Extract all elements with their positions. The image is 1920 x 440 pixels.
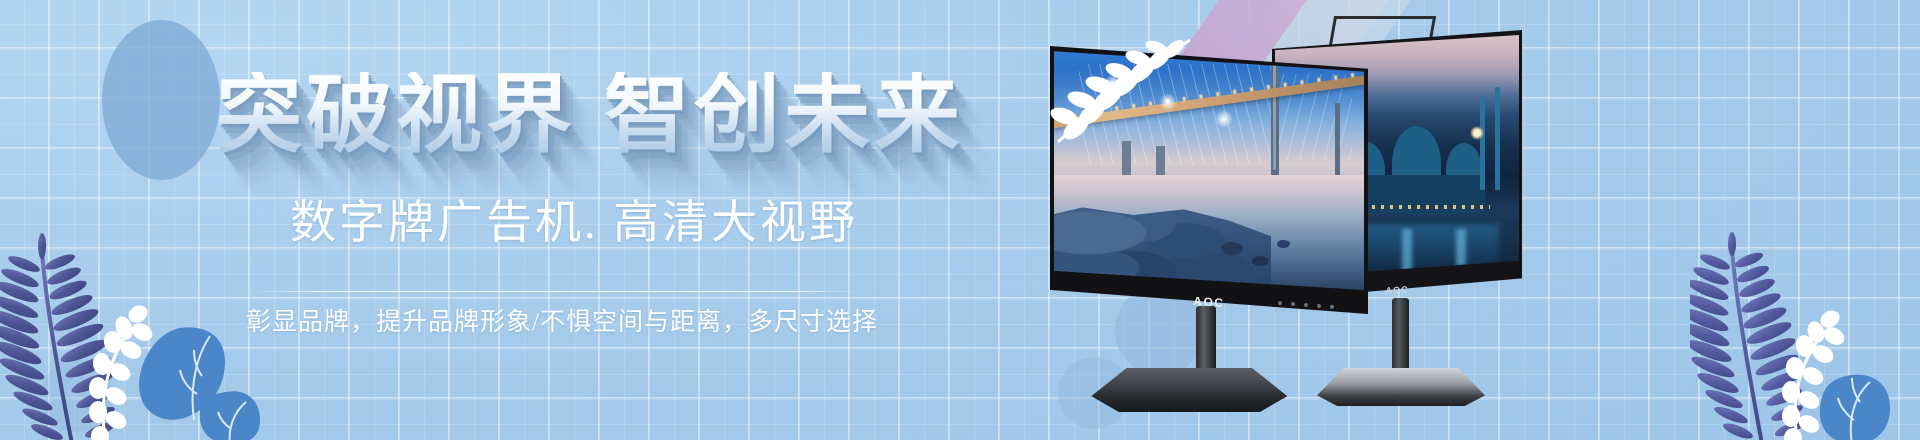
osd-button-3[interactable] [1304,303,1308,307]
bridge-pylon-main-highlight [1273,64,1276,170]
front-monitor-neck [1196,306,1216,374]
osd-button-5[interactable] [1330,305,1334,309]
promo-banner: 突破视界 智创未来 数字牌广告机. 高清大视野 彰显品牌，提升品牌形象/不惧空间… [0,0,1920,440]
back-monitor-base [1317,368,1485,406]
mosque-minaret-3 [1495,87,1500,190]
bridge-pylon-far [1335,103,1340,180]
osd-button-4[interactable] [1317,304,1321,308]
subtitle: 数字牌广告机. 高清大视野 [290,186,858,252]
back-monitor-brand-logo: AOC [1386,284,1409,295]
reflection-streak-3 [1456,229,1466,266]
osd-button-1[interactable] [1278,301,1282,305]
rock-3 [1277,240,1290,248]
divider [248,291,862,292]
osd-button-2[interactable] [1291,302,1295,306]
product-group: AOC [1050,0,1670,440]
tagline: 彰显品牌，提升品牌形象/不惧空间与距离，多尺寸选择 [246,302,878,338]
light-flare-1 [1104,74,1122,92]
reflection-streak-2 [1402,229,1412,273]
mosque-minaret-2 [1480,97,1485,190]
page-title: 突破视界 智创未来 [216,72,964,158]
copy-block: 突破视界 智创未来 数字牌广告机. 高清大视野 彰显品牌，提升品牌形象/不惧空间… [0,0,920,440]
front-monitor: AOC [1050,46,1368,314]
back-monitor-neck [1392,298,1409,376]
front-monitor-screen [1054,50,1364,290]
front-monitor-base [1091,368,1287,412]
